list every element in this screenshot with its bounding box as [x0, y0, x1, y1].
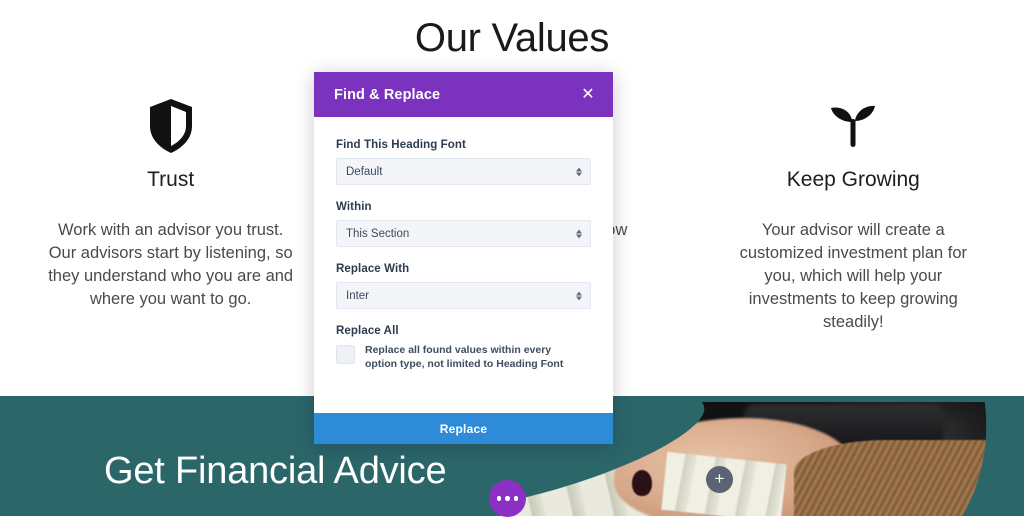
field-replace-with: Replace With Inter — [336, 263, 591, 309]
value-title: Trust — [147, 167, 194, 193]
modal-header: Find & Replace ✕ — [314, 72, 613, 117]
replace-with-select[interactable]: Inter — [336, 282, 591, 309]
add-button[interactable]: + — [706, 466, 733, 493]
ellipsis-icon — [497, 496, 519, 501]
field-label: Within — [336, 201, 591, 213]
shield-icon — [148, 95, 194, 157]
modal-footer: Replace — [314, 413, 613, 444]
photo-nail — [632, 470, 652, 496]
close-icon[interactable]: ✕ — [579, 86, 597, 104]
value-column-keep-growing: Keep Growing Your advisor will create a … — [683, 95, 1024, 355]
value-body: Work with an advisor you trust. Our advi… — [46, 219, 296, 311]
plus-icon: + — [715, 470, 725, 487]
select-value: Inter — [346, 290, 369, 302]
field-find-heading-font: Find This Heading Font Default — [336, 139, 591, 185]
page-root: Our Values Trust Work with an advisor yo… — [0, 0, 1024, 516]
modal-body: Find This Heading Font Default Within Th… — [314, 117, 613, 413]
replace-all-checkbox[interactable] — [336, 345, 355, 364]
within-select[interactable]: This Section — [336, 220, 591, 247]
value-column-trust: Trust Work with an advisor you trust. Ou… — [0, 95, 341, 355]
find-replace-modal: Find & Replace ✕ Find This Heading Font … — [314, 72, 613, 444]
select-value: Default — [346, 166, 382, 178]
field-replace-all: Replace All Replace all found values wit… — [336, 325, 591, 371]
replace-all-description: Replace all found values within every op… — [365, 344, 583, 371]
chevron-updown-icon — [576, 229, 582, 238]
field-label: Replace All — [336, 325, 591, 337]
value-title: Keep Growing — [787, 167, 920, 193]
cta-title: Get Financial Advice — [104, 448, 446, 494]
select-value: This Section — [346, 228, 409, 240]
photo-sleeve — [794, 440, 1024, 516]
page-title: Our Values — [0, 14, 1024, 62]
more-options-button[interactable] — [489, 480, 526, 517]
chevron-updown-icon — [576, 291, 582, 300]
replace-button[interactable]: Replace — [314, 413, 613, 444]
field-label: Replace With — [336, 263, 591, 275]
value-body: Your advisor will create a customized in… — [728, 219, 978, 334]
find-heading-font-select[interactable]: Default — [336, 158, 591, 185]
field-within: Within This Section — [336, 201, 591, 247]
sprout-icon — [828, 95, 878, 157]
chevron-updown-icon — [576, 167, 582, 176]
replace-all-row: Replace all found values within every op… — [336, 344, 591, 371]
field-label: Find This Heading Font — [336, 139, 591, 151]
modal-title: Find & Replace — [334, 87, 440, 103]
